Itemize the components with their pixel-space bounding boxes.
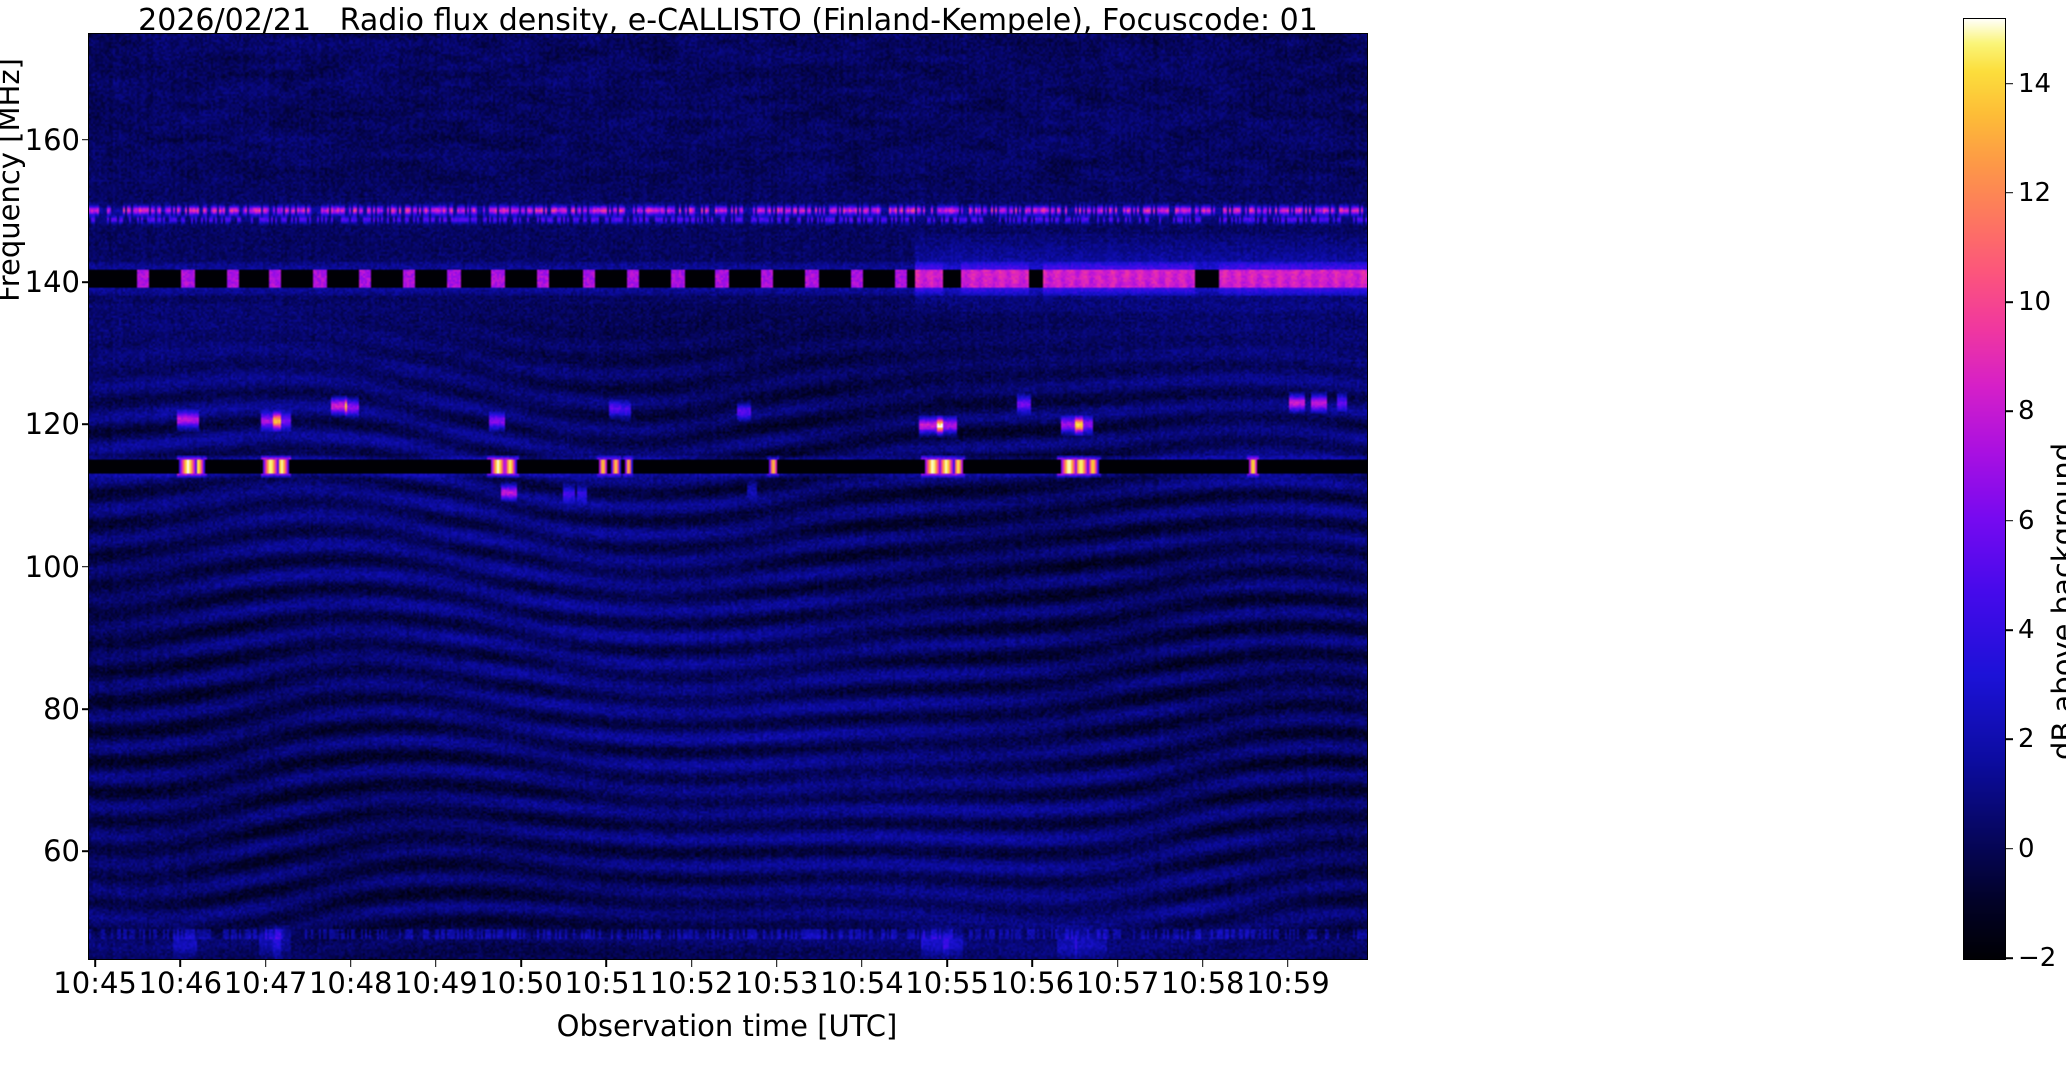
x-tick-label: 10:45	[53, 966, 137, 1000]
y-tick-label: 100	[0, 550, 80, 584]
x-tick-label: 10:57	[1076, 966, 1160, 1000]
x-tick-label: 10:56	[991, 966, 1075, 1000]
y-tick-label: 60	[0, 834, 80, 868]
colorbar-tick-mark	[2005, 957, 2013, 959]
colorbar-tick-mark	[2005, 520, 2013, 522]
x-tick-label: 10:51	[565, 966, 649, 1000]
colorbar-tick-mark	[2005, 192, 2013, 194]
colorbar-tick-label: −2	[2018, 943, 2056, 973]
colorbar-tick-label: 10	[2018, 287, 2051, 317]
colorbar[interactable]	[1963, 18, 2006, 960]
x-tick-label: 10:53	[735, 966, 819, 1000]
colorbar-tick-label: 0	[2018, 834, 2035, 864]
colorbar-tick-label: 14	[2018, 69, 2051, 99]
colorbar-tick-mark	[2005, 848, 2013, 850]
y-tick-label: 160	[0, 123, 80, 157]
colorbar-tick-mark	[2005, 83, 2013, 85]
x-tick-label: 10:47	[224, 966, 308, 1000]
y-tick-label: 80	[0, 692, 80, 726]
x-tick-label: 10:58	[1161, 966, 1245, 1000]
y-tick-mark	[82, 424, 89, 426]
x-tick-label: 10:49	[394, 966, 478, 1000]
y-tick-mark	[82, 850, 89, 852]
y-tick-mark	[82, 566, 89, 568]
colorbar-tick-mark	[2005, 411, 2013, 413]
colorbar-tick-mark	[2005, 301, 2013, 303]
colorbar-gradient	[1964, 19, 2005, 959]
x-tick-label: 10:48	[309, 966, 393, 1000]
colorbar-tick-mark	[2005, 739, 2013, 741]
y-tick-label: 140	[0, 265, 80, 299]
figure-canvas: 2026/02/21 Radio flux density, e-CALLIST…	[0, 0, 2066, 1067]
colorbar-tick-label: 6	[2018, 506, 2035, 536]
y-tick-label: 120	[0, 407, 80, 441]
spectrogram-image	[89, 34, 1367, 959]
spectrogram-plot[interactable]	[88, 33, 1368, 960]
y-tick-mark	[82, 139, 89, 141]
x-tick-label: 10:55	[905, 966, 989, 1000]
x-tick-label: 10:59	[1246, 966, 1330, 1000]
colorbar-label: dB above background	[2046, 443, 2066, 760]
x-tick-label: 10:54	[820, 966, 904, 1000]
colorbar-tick-mark	[2005, 629, 2013, 631]
x-tick-label: 10:46	[139, 966, 223, 1000]
colorbar-tick-label: 2	[2018, 724, 2035, 754]
colorbar-tick-label: 12	[2018, 178, 2051, 208]
colorbar-tick-label: 8	[2018, 396, 2035, 426]
y-tick-mark	[82, 708, 89, 710]
colorbar-tick-label: 4	[2018, 615, 2035, 645]
x-axis-label: Observation time [UTC]	[88, 1009, 1366, 1043]
x-tick-label: 10:50	[479, 966, 563, 1000]
y-tick-mark	[82, 281, 89, 283]
x-tick-label: 10:52	[650, 966, 734, 1000]
